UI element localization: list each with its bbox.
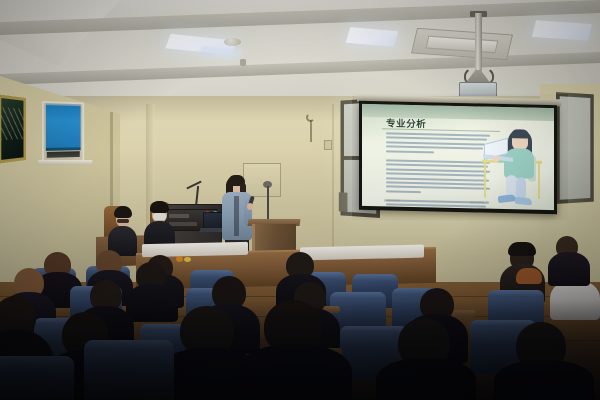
seat-foreground-2 — [0, 356, 74, 400]
wall-outlet — [324, 140, 332, 150]
illustration-desk-leg-left — [484, 162, 486, 198]
air-conditioner-vent — [411, 28, 513, 60]
orange-fruit — [176, 256, 183, 262]
slide-footer-left — [384, 199, 400, 201]
window-sill — [38, 160, 93, 165]
illustration-hair-front — [511, 129, 529, 138]
podium-microphone-stand — [267, 186, 269, 222]
sprinkler-head-icon — [240, 59, 246, 66]
slide-surface: 专业分析 — [362, 104, 554, 210]
slide-footer-right — [470, 201, 484, 203]
seat-foreground-1 — [84, 340, 174, 400]
window-glass — [47, 151, 80, 158]
lecture-hall-photo: 专业分析 — [0, 0, 600, 400]
face-mask — [153, 213, 166, 220]
window-roller-blind — [46, 105, 81, 149]
presenter-jacket-opening — [234, 196, 239, 236]
presenter-hand — [247, 203, 253, 210]
table-items — [176, 256, 192, 262]
window — [42, 101, 84, 163]
illustration-hand — [493, 156, 500, 162]
framed-artwork — [0, 94, 26, 163]
wall-hook-cable — [310, 120, 312, 142]
illustration-torso — [504, 148, 534, 179]
illustration-shoe-left — [498, 194, 517, 203]
ac-vent-louvers — [425, 36, 498, 54]
panel-light-2-icon — [346, 27, 399, 47]
illustration-desk-leg-right — [538, 163, 540, 199]
panel-light-1-glow — [198, 46, 242, 60]
projection-screen: 专业分析 — [359, 101, 557, 214]
yellow-item — [184, 257, 191, 262]
slide-illustration — [482, 125, 546, 206]
illustration-shoe-right — [515, 197, 532, 206]
ceiling-beam-rear — [0, 52, 600, 85]
wall-access-panel — [243, 163, 281, 197]
panel-light-3-icon — [532, 20, 592, 41]
whiteboard-right — [556, 92, 594, 204]
artwork-canvas — [1, 98, 23, 160]
hoodie-hood — [516, 268, 542, 284]
slide-body-text — [386, 132, 490, 210]
projector-mount-pole — [475, 13, 482, 71]
ceiling-dome-fixture — [224, 38, 241, 46]
whiteboard-tray — [339, 192, 348, 212]
